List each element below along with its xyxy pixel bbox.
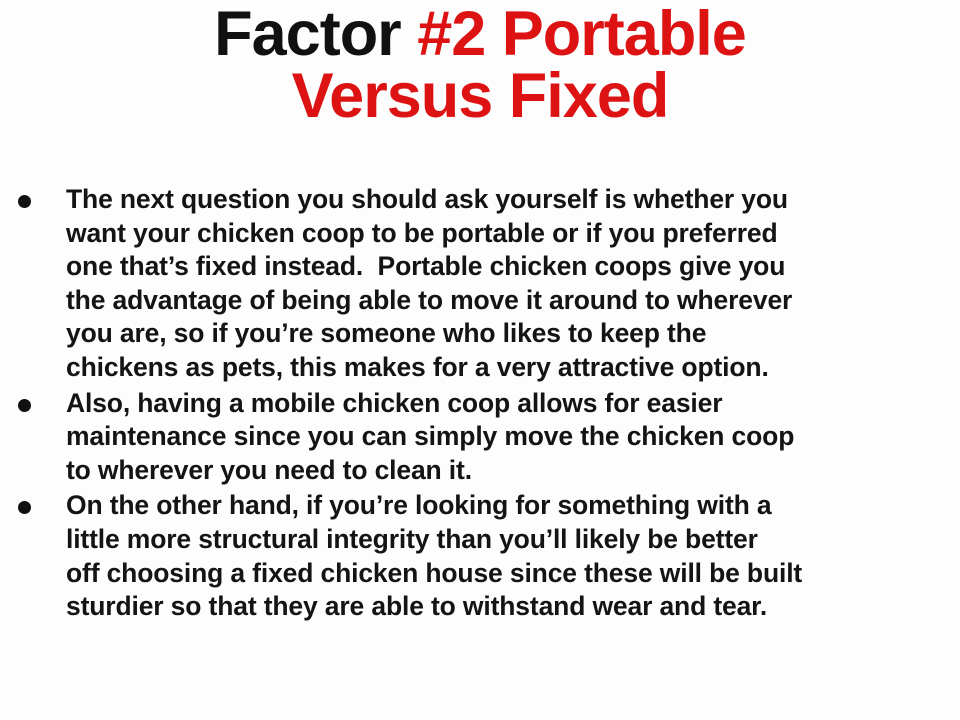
- list-item: The next question you should ask yoursel…: [0, 183, 960, 385]
- bullet-line: chickens as pets, this makes for a very …: [66, 351, 960, 385]
- slide-canvas: Factor #2 Portable Versus Fixed The next…: [0, 0, 960, 720]
- bullet-line: off choosing a fixed chicken house since…: [66, 557, 960, 591]
- bullet-dot-icon: [18, 399, 31, 412]
- bullet-line: The next question you should ask yoursel…: [66, 183, 960, 217]
- bullet-line: sturdier so that they are able to withst…: [66, 590, 960, 624]
- bullet-line: On the other hand, if you’re looking for…: [66, 489, 960, 523]
- bullet-line: one that’s fixed instead. Portable chick…: [66, 250, 960, 284]
- list-item: On the other hand, if you’re looking for…: [0, 489, 960, 623]
- bullet-text-2: Also, having a mobile chicken coop allow…: [66, 387, 960, 488]
- bullet-line: maintenance since you can simply move th…: [66, 420, 960, 454]
- bullet-text-1: The next question you should ask yoursel…: [66, 183, 960, 385]
- slide-title: Factor #2 Portable Versus Fixed: [0, 0, 960, 127]
- title-line-2: Versus Fixed: [0, 66, 960, 126]
- bullet-dot-icon: [18, 195, 31, 208]
- title-word-factor: Factor: [214, 0, 417, 69]
- bullet-line: want your chicken coop to be portable or…: [66, 217, 960, 251]
- title-line-1: Factor #2 Portable: [0, 4, 960, 64]
- bullet-line: you are, so if you’re someone who likes …: [66, 317, 960, 351]
- bullet-line: Also, having a mobile chicken coop allow…: [66, 387, 960, 421]
- list-item: Also, having a mobile chicken coop allow…: [0, 387, 960, 488]
- bullet-line: to wherever you need to clean it.: [66, 454, 960, 488]
- title-part-number-portable: #2 Portable: [417, 0, 746, 69]
- bullet-dot-icon: [18, 501, 31, 514]
- bullet-list: The next question you should ask yoursel…: [0, 183, 960, 626]
- bullet-line: the advantage of being able to move it a…: [66, 284, 960, 318]
- bullet-line: little more structural integrity than yo…: [66, 523, 960, 557]
- bullet-text-3: On the other hand, if you’re looking for…: [66, 489, 960, 623]
